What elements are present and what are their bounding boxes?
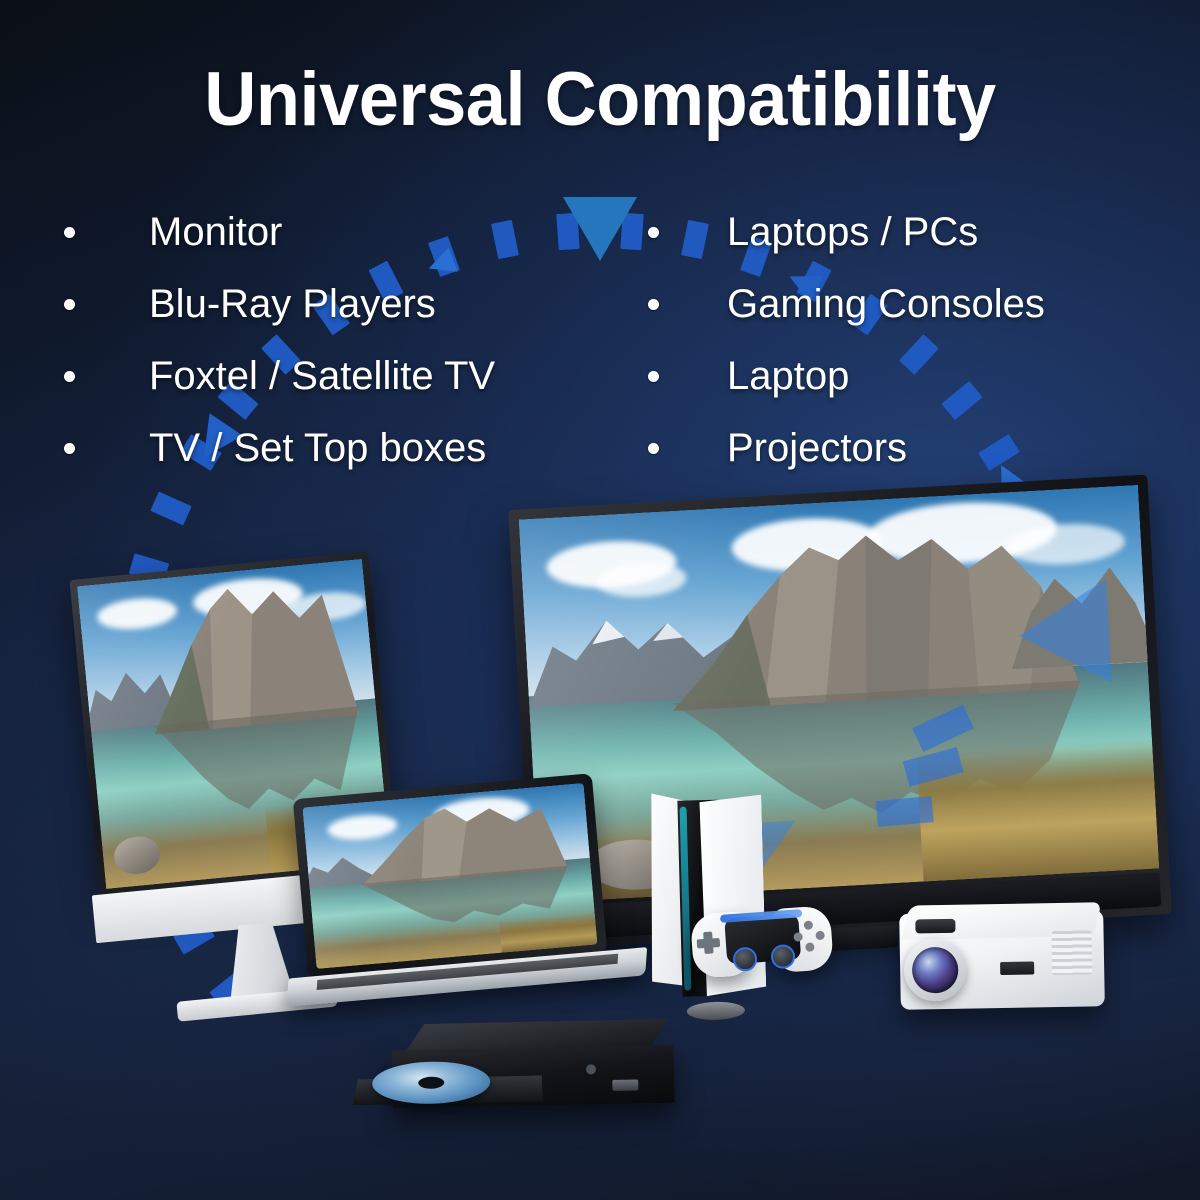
device-bluray-player xyxy=(351,1019,679,1122)
device-lineup xyxy=(0,0,1200,1200)
device-television xyxy=(508,474,1172,949)
overlay-triangle-icon xyxy=(1016,579,1112,688)
overlay-dash xyxy=(876,796,934,827)
tv-screen-image xyxy=(519,485,1159,903)
device-laptop xyxy=(293,773,608,978)
device-game-controller xyxy=(689,895,835,991)
device-projector xyxy=(891,896,1111,1022)
marketing-banner: Universal Compatibility Monitor Blu-Ray … xyxy=(0,0,1200,1200)
laptop-screen-image xyxy=(302,783,597,969)
